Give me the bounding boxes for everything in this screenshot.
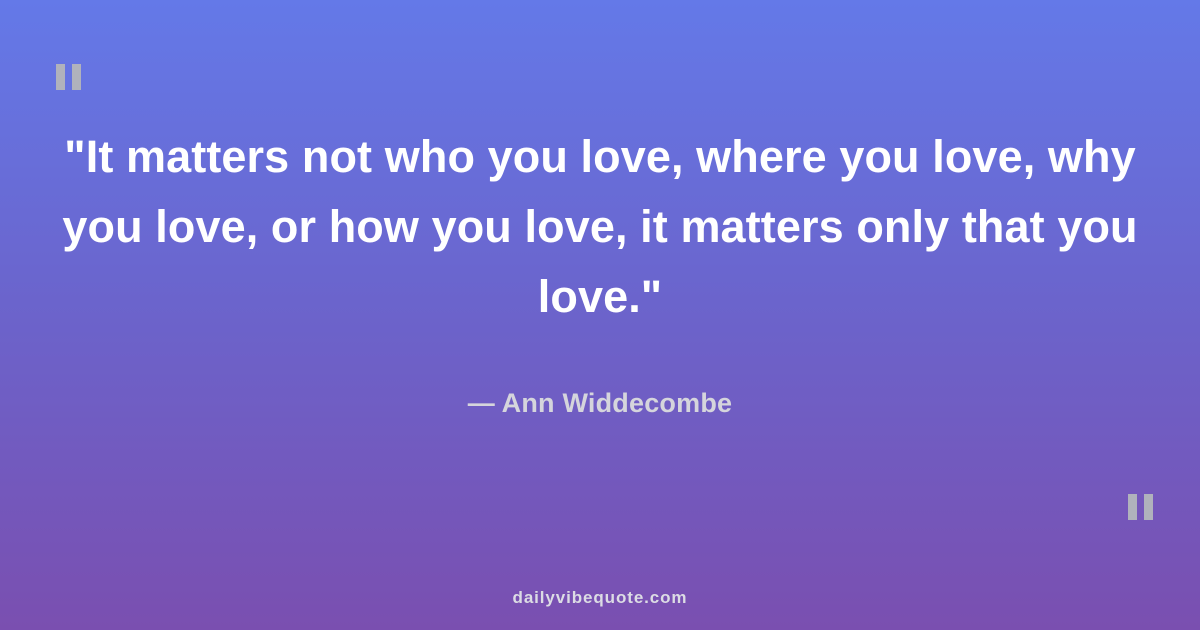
quote-mark-bar-right — [1144, 494, 1153, 520]
site-watermark: dailyvibequote.com — [0, 588, 1200, 608]
quote-attribution: — Ann Widdecombe — [468, 332, 732, 419]
quote-mark-bar-left — [1128, 494, 1137, 520]
quote-card: "It matters not who you love, where you … — [0, 0, 1200, 630]
quote-content: "It matters not who you love, where you … — [0, 0, 1200, 540]
quote-mark-icon-bottom-right — [1128, 494, 1153, 520]
quote-text: "It matters not who you love, where you … — [43, 122, 1158, 332]
